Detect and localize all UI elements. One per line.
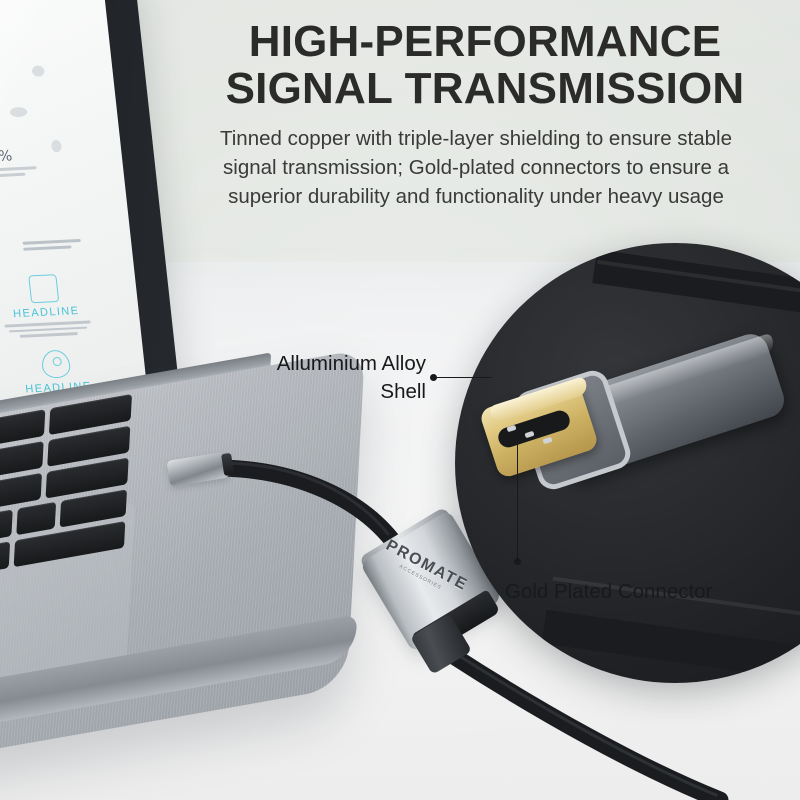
callout-gold-plated-connector: Gold Plated Connector bbox=[505, 578, 712, 606]
callout-shell-line-2: Shell bbox=[246, 378, 426, 406]
subcopy-line-3: superior durability and functionality un… bbox=[160, 182, 792, 211]
callout-aluminium-alloy-shell: Alluminium Alloy Shell bbox=[246, 350, 426, 405]
product-infographic: 30% 30% HEADLINE HEADLINE bbox=[0, 0, 800, 800]
callout-gold-line-1: Gold Plated Connector bbox=[505, 578, 712, 606]
leader-line-shell bbox=[434, 377, 492, 378]
subcopy-line-1: Tinned copper with triple-layer shieldin… bbox=[160, 124, 792, 153]
leader-dot-connector bbox=[514, 558, 521, 565]
page-headline: HIGH-PERFORMANCE SIGNAL TRANSMISSION bbox=[180, 18, 790, 112]
callout-shell-line-1: Alluminium Alloy bbox=[246, 350, 426, 378]
leader-line-connector bbox=[517, 440, 518, 562]
leader-dot-shell bbox=[430, 374, 437, 381]
headline-line-1: HIGH-PERFORMANCE bbox=[249, 17, 722, 66]
subcopy-line-2: signal transmission; Gold-plated connect… bbox=[160, 153, 792, 182]
page-subcopy: Tinned copper with triple-layer shieldin… bbox=[160, 124, 792, 211]
headline-line-2: SIGNAL TRANSMISSION bbox=[180, 65, 790, 112]
